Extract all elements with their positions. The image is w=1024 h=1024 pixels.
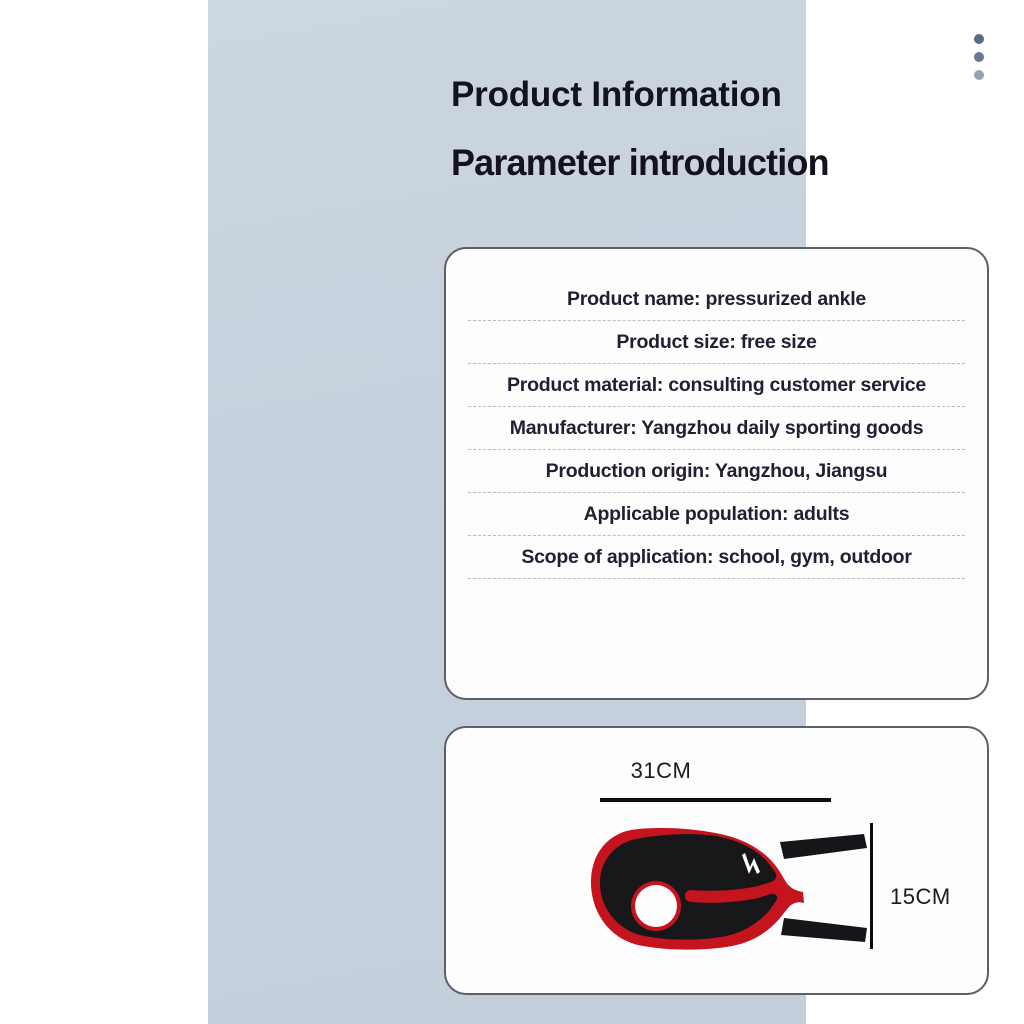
parameter-row: Scope of application: school, gym, outdo… (468, 536, 965, 579)
height-dimension-label: 15CM (890, 884, 951, 910)
parameter-row-text: Manufacturer: Yangzhou daily sporting go… (510, 417, 924, 440)
product-information-page: Product Information Parameter introducti… (0, 0, 1024, 1024)
parameter-row: Manufacturer: Yangzhou daily sporting go… (468, 407, 965, 450)
parameter-row: Product size: free size (468, 321, 965, 364)
parameter-list: Product name: pressurized ankle Product … (446, 269, 987, 579)
parameter-row-text: Production origin: Yangzhou, Jiangsu (546, 460, 888, 483)
product-dimension-card: 31CM 15CM (444, 726, 989, 995)
brace-body (591, 828, 804, 950)
parameter-row: Applicable population: adults (468, 493, 965, 536)
parameter-row-text: Product material: consulting customer se… (507, 374, 926, 397)
page-dot-2[interactable] (974, 52, 984, 62)
parameter-row-text: Scope of application: school, gym, outdo… (521, 546, 911, 569)
section-title: Parameter introduction (451, 143, 829, 184)
page-dot-3[interactable] (974, 70, 984, 80)
upper-strap (780, 834, 867, 859)
parameter-row: Product material: consulting customer se… (468, 364, 965, 407)
parameter-row-text: Product name: pressurized ankle (567, 288, 866, 311)
lower-strap (781, 918, 867, 942)
page-title: Product Information (451, 76, 782, 115)
width-dimension-rule (600, 798, 831, 802)
parameter-row: Production origin: Yangzhou, Jiangsu (468, 450, 965, 493)
product-image-ankle-brace (584, 818, 874, 958)
page-dot-1[interactable] (974, 34, 984, 44)
parameter-row-text: Product size: free size (616, 331, 816, 354)
content-panel: Product Information Parameter introducti… (208, 0, 806, 1024)
width-dimension-label: 31CM (446, 758, 876, 784)
parameter-card: Product name: pressurized ankle Product … (444, 247, 989, 700)
parameter-row: Product name: pressurized ankle (468, 278, 965, 321)
ankle-opening (631, 881, 681, 931)
page-dots-indicator[interactable] (974, 34, 988, 88)
parameter-row-text: Applicable population: adults (584, 503, 850, 526)
